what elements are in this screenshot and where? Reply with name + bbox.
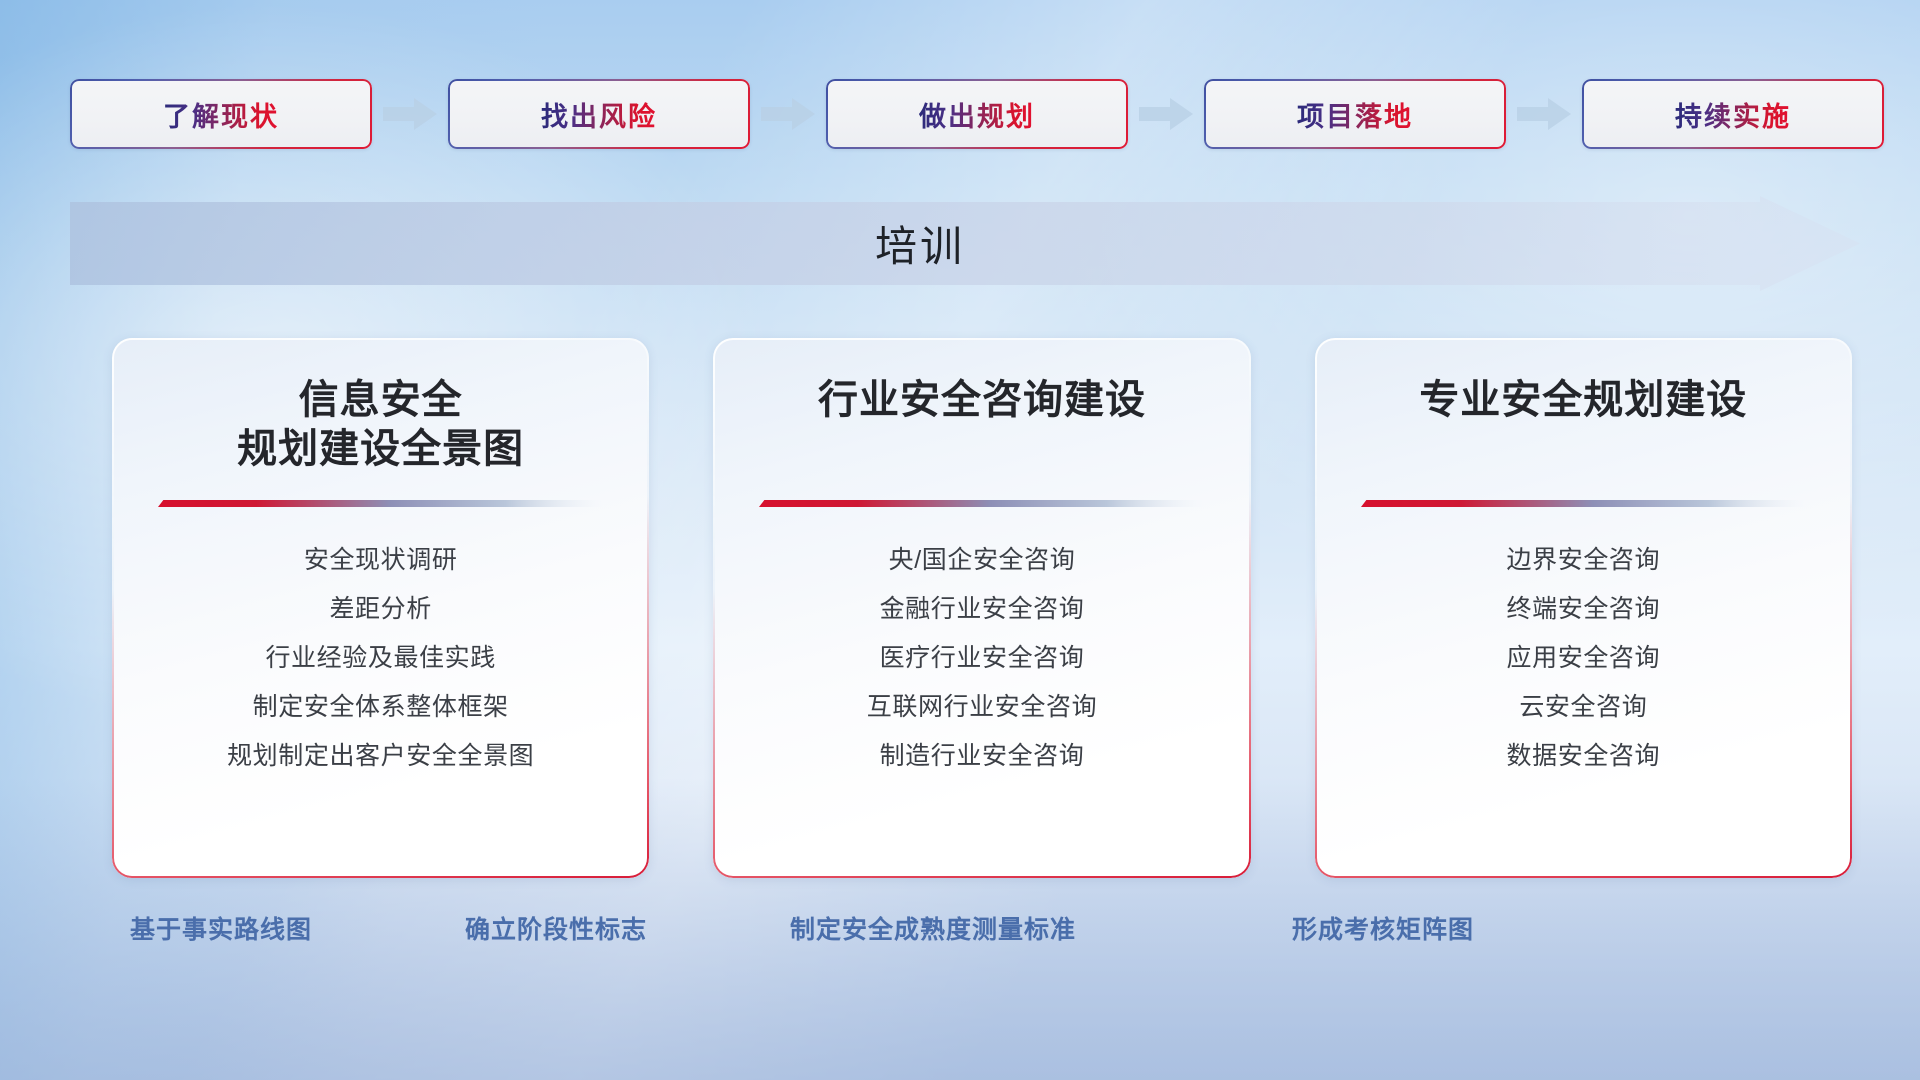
list-item: 规划制定出客户安全全景图 — [146, 732, 615, 781]
list-item: 制定安全体系整体框架 — [146, 683, 615, 732]
training-banner: 培训 — [70, 196, 1860, 291]
list-item: 制造行业安全咨询 — [747, 732, 1216, 781]
process-step-1[interactable]: 了解现状 — [70, 79, 372, 149]
process-step-2-label: 找出风险 — [541, 95, 657, 134]
training-banner-label: 培训 — [70, 196, 1770, 291]
process-step-1-label: 了解现状 — [163, 95, 279, 134]
list-item: 数据安全咨询 — [1349, 732, 1818, 781]
card-divider — [1361, 498, 1806, 510]
arrow-right-icon — [759, 94, 817, 134]
footnote-matrix: 形成考核矩阵图 — [1292, 910, 1474, 946]
card-title: 行业安全咨询建设 — [747, 376, 1216, 476]
list-item: 行业经验及最佳实践 — [146, 634, 615, 683]
process-step-3-label: 做出规划 — [919, 95, 1035, 134]
process-step-2[interactable]: 找出风险 — [448, 79, 750, 149]
footnote-row: 基于事实路线图 确立阶段性标志 制定安全成熟度测量标准 形成考核矩阵图 — [0, 910, 1920, 970]
card-item-list: 安全现状调研 差距分析 行业经验及最佳实践 制定安全体系整体框架 规划制定出客户… — [146, 536, 615, 781]
list-item: 差距分析 — [146, 585, 615, 634]
list-item: 终端安全咨询 — [1349, 585, 1818, 634]
arrow-right-icon — [1515, 94, 1573, 134]
card-divider — [158, 498, 603, 510]
card-row: 信息安全 规划建设全景图 安全现状调研 差距分析 行业经验及最佳实践 制定安全体… — [112, 338, 1852, 878]
list-item: 应用安全咨询 — [1349, 634, 1818, 683]
footnote-milestone: 确立阶段性标志 — [465, 910, 647, 946]
card-industry-consulting[interactable]: 行业安全咨询建设 央/国企安全咨询 金融行业安全咨询 医疗行业安全咨询 互联网行… — [713, 338, 1250, 878]
card-title: 专业安全规划建设 — [1349, 376, 1818, 476]
list-item: 医疗行业安全咨询 — [747, 634, 1216, 683]
process-step-4[interactable]: 项目落地 — [1204, 79, 1506, 149]
process-step-row: 了解现状 找出风险 做出规划 项目落地 持续实施 — [70, 78, 1850, 150]
list-item: 云安全咨询 — [1349, 683, 1818, 732]
process-step-3[interactable]: 做出规划 — [826, 79, 1128, 149]
card-security-blueprint[interactable]: 信息安全 规划建设全景图 安全现状调研 差距分析 行业经验及最佳实践 制定安全体… — [112, 338, 649, 878]
list-item: 安全现状调研 — [146, 536, 615, 585]
process-step-5[interactable]: 持续实施 — [1582, 79, 1884, 149]
card-divider — [759, 498, 1204, 510]
arrow-right-icon — [1137, 94, 1195, 134]
footnote-maturity: 制定安全成熟度测量标准 — [790, 910, 1076, 946]
list-item: 互联网行业安全咨询 — [747, 683, 1216, 732]
process-step-5-label: 持续实施 — [1675, 95, 1791, 134]
card-item-list: 央/国企安全咨询 金融行业安全咨询 医疗行业安全咨询 互联网行业安全咨询 制造行… — [747, 536, 1216, 781]
card-professional-planning[interactable]: 专业安全规划建设 边界安全咨询 终端安全咨询 应用安全咨询 云安全咨询 数据安全… — [1315, 338, 1852, 878]
arrow-right-icon — [381, 94, 439, 134]
process-step-4-label: 项目落地 — [1297, 95, 1413, 134]
footnote-roadmap: 基于事实路线图 — [130, 910, 312, 946]
list-item: 央/国企安全咨询 — [747, 536, 1216, 585]
list-item: 金融行业安全咨询 — [747, 585, 1216, 634]
list-item: 边界安全咨询 — [1349, 536, 1818, 585]
card-item-list: 边界安全咨询 终端安全咨询 应用安全咨询 云安全咨询 数据安全咨询 — [1349, 536, 1818, 781]
card-title: 信息安全 规划建设全景图 — [146, 376, 615, 476]
